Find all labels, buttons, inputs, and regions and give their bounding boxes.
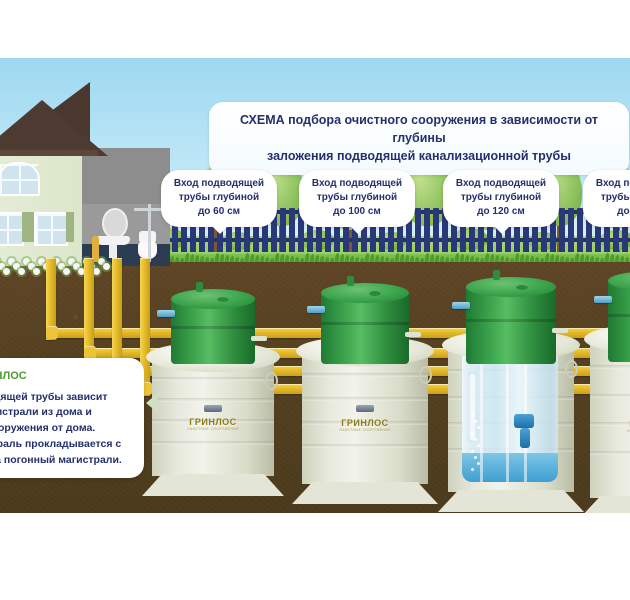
callout-140: Вход подводящей трубы глубиной до 140 см: [583, 170, 630, 227]
tank-rib: [152, 441, 274, 445]
tank-riser-seam: [321, 322, 409, 325]
callout-120-line-3: до 120 см: [453, 205, 549, 219]
callout-60-line-2: трубы глубиной: [171, 191, 267, 205]
tank-riser-seam: [171, 326, 255, 329]
callout-100: Вход подводящей трубы глубиной до 100 см: [299, 170, 415, 227]
callout-140-line-2: трубы глубиной: [593, 191, 630, 205]
infobox-line-4: Обычно магистраль прокладывается с: [0, 437, 132, 453]
house-roof-edge: [0, 150, 98, 156]
scheme-illustration: ГРИНЛОСОЧИСТНЫЕ СООРУЖЕНИЯГРИНЛОСОЧИСТНЫ…: [0, 58, 630, 513]
tank-riser-seam: [466, 319, 556, 322]
callout-60-tail: [212, 226, 228, 234]
title-line-2: заложения подводящей канализационной тру…: [225, 147, 613, 165]
tank-rib: [590, 365, 630, 369]
callout-60: Вход подводящей трубы глубиной до 60 см: [161, 170, 277, 227]
tank-pump: [514, 414, 534, 428]
tank-aeration-bubble: [477, 462, 480, 465]
tank-lifting-handle: [419, 366, 432, 384]
callout-60-line-3: до 60 см: [171, 205, 267, 219]
callout-100-line-3: до 100 см: [309, 205, 405, 219]
tank-logo-2: ГРИНЛОС: [302, 418, 428, 428]
window-lower-left: [0, 212, 24, 246]
mirror-icon: [102, 208, 128, 239]
shutter-left-2: [26, 212, 34, 242]
tank-pump-outlet: [520, 428, 530, 448]
tank-nameplate: [204, 405, 222, 412]
tank-lid-2: [321, 283, 409, 303]
window-arched: [0, 162, 40, 196]
tank-base-2: [292, 482, 438, 504]
tank-riser-4: [608, 280, 630, 362]
tank-aeration-bubble: [477, 426, 480, 429]
callout-120: Вход подводящей трубы глубиной до 120 см: [443, 170, 559, 227]
callout-60-line-1: Вход подводящей: [171, 177, 267, 191]
tank-outlet-2: [405, 332, 421, 337]
infobox-heading: Компания ГРИНЛОС: [0, 368, 132, 385]
title-line-1: СХЕМА подбора очистного сооружения в зав…: [225, 111, 613, 147]
shutter-right-2: [66, 212, 74, 242]
infobox-heading-brand: ГРИНЛОС: [0, 370, 27, 382]
tank-inlet-1: [157, 310, 175, 317]
tank-divider-wall: [506, 352, 509, 482]
tank-lifting-handle: [565, 360, 578, 378]
illustration-page: ГРИНЛОСОЧИСТНЫЕ СООРУЖЕНИЯГРИНЛОСОЧИСТНЫ…: [0, 0, 630, 600]
tank-aeration-bubble: [471, 414, 474, 417]
tank-base-1: [142, 474, 284, 496]
callout-120-line-2: трубы глубиной: [453, 191, 549, 205]
sink-pedestal: [109, 244, 117, 258]
tank-rib: [590, 394, 630, 398]
tank-aeration-bubble: [471, 432, 474, 435]
infobox-line-2: от глубины магистрали из дома и: [0, 405, 132, 421]
callout-100-line-2: трубы глубиной: [309, 191, 405, 205]
tank-rib: [302, 444, 428, 448]
infobox-arrow: [146, 394, 157, 412]
infobox-line-3: удаленности сооружения от дома.: [0, 421, 132, 437]
tank-aeration-bubble: [471, 450, 474, 453]
pipe-elbow-1: [46, 326, 58, 339]
tank-rib: [302, 397, 428, 401]
house-roof-gable: [0, 100, 108, 156]
tank-logo-subtitle-4: ОЧИСТНЫЕ СООРУЖЕНИЯ: [590, 429, 630, 433]
tank-aeration-bubble: [477, 444, 480, 447]
tank-service-hatch: [516, 284, 528, 290]
tank-riser-3: [466, 286, 556, 364]
callout-120-line-1: Вход подводящей: [453, 177, 549, 191]
tank-cutaway-window: [462, 352, 558, 482]
tank-outlet-1: [251, 336, 267, 341]
infobox-line-1: Глубина подводящей трубы зависит: [0, 390, 132, 406]
tank-vent-pipe: [347, 276, 354, 286]
tank-rib: [590, 451, 630, 455]
tank-aeration-bubble: [474, 420, 477, 423]
tank-divider-wall: [480, 352, 483, 482]
tank-aeration-bubble: [471, 468, 474, 471]
callout-100-tail: [350, 226, 366, 234]
tank-nameplate: [356, 405, 374, 412]
infobox-line-5: уклоном 2 см на погонный магистрали.: [0, 453, 132, 469]
callout-100-line-1: Вход подводящей: [309, 177, 405, 191]
tank-inlet-4: [594, 296, 612, 303]
tank-logo-4: ГРИНЛОС: [590, 419, 630, 429]
tank-outlet-3: [552, 328, 568, 333]
tank-logo-subtitle-1: ОЧИСТНЫЕ СООРУЖЕНИЯ: [152, 427, 274, 431]
tank-vent-pipe: [196, 282, 203, 292]
infobox: Компания ГРИНЛОС Глубина подводящей труб…: [0, 358, 144, 478]
tank-rib: [152, 398, 274, 402]
pipe-vertical-2: [84, 258, 94, 360]
tank-lifting-handle: [265, 372, 278, 390]
title-banner: СХЕМА подбора очистного сооружения в зав…: [209, 102, 629, 175]
laundry-pole: [148, 204, 151, 262]
tank-lid-1: [171, 289, 255, 309]
tank-logo-subtitle-2: ОЧИСТНЫЕ СООРУЖЕНИЯ: [302, 428, 428, 432]
tank-riser-seam: [608, 314, 630, 317]
callout-120-tail: [494, 226, 510, 234]
tank-vent-pipe: [493, 270, 500, 280]
tank-aeration-bubble: [474, 438, 477, 441]
tank-inlet-2: [307, 306, 325, 313]
tank-rib: [302, 373, 428, 377]
tank-inlet-3: [452, 302, 470, 309]
tank-logo-1: ГРИНЛОС: [152, 417, 274, 427]
callout-140-line-3: до 140 см: [593, 205, 630, 219]
window-lower-right: [34, 212, 68, 246]
tank-lid-3: [466, 277, 556, 297]
tank-aeration-bubble: [474, 456, 477, 459]
tank-rib: [152, 377, 274, 381]
callout-140-line-1: Вход подводящей: [593, 177, 630, 191]
tank-base-3: [438, 490, 584, 512]
